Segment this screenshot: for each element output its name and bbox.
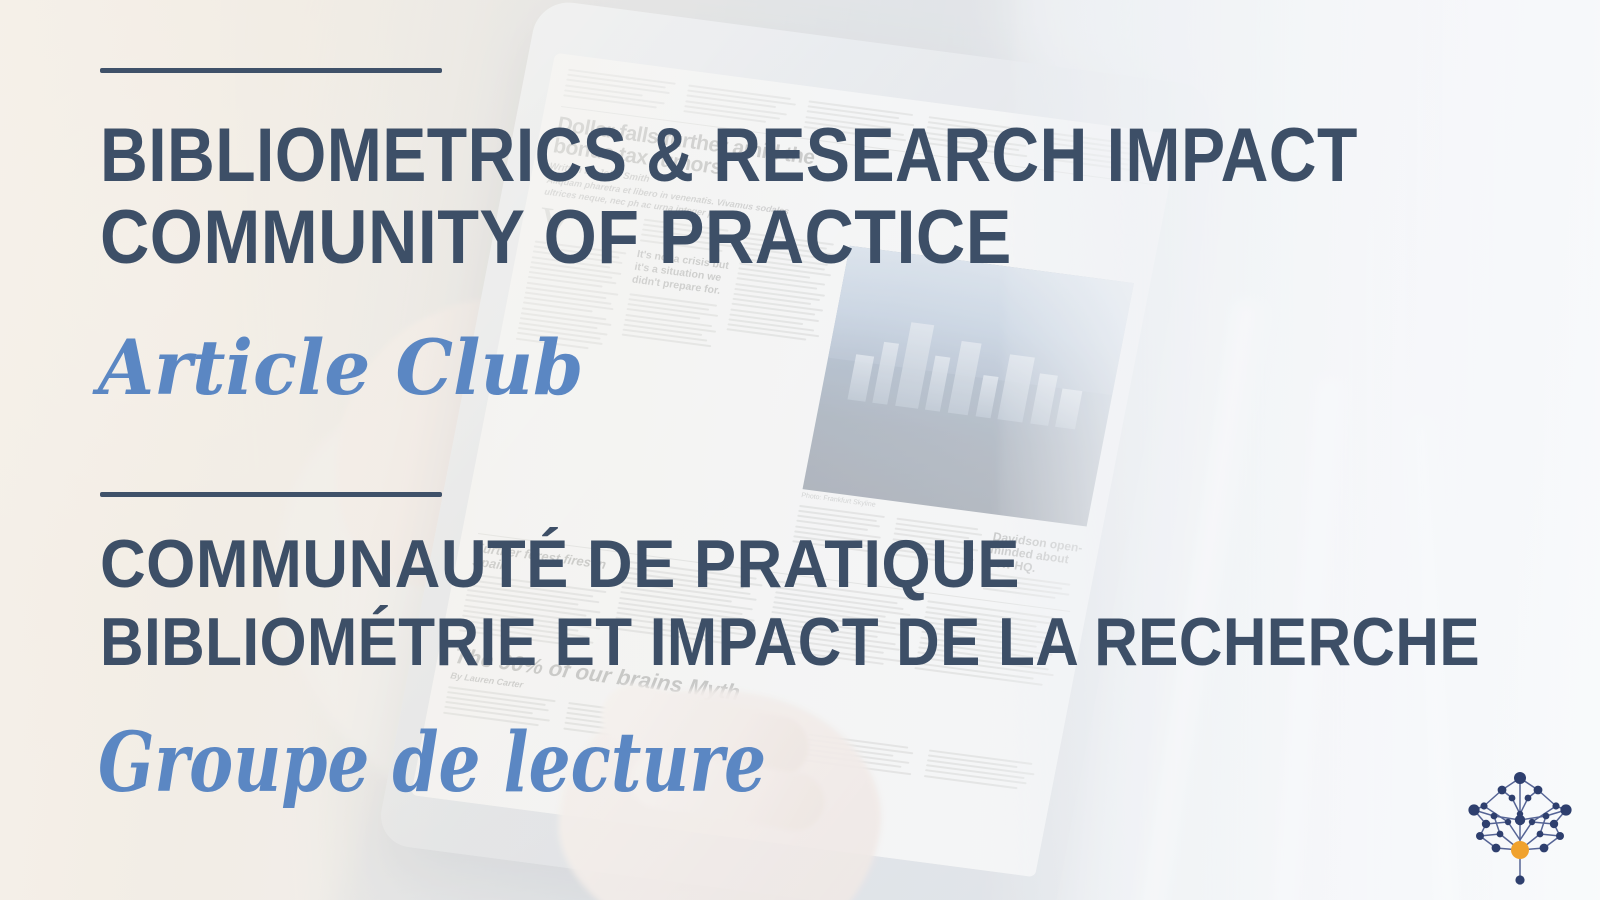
english-title-line1: BIBLIOMETRICS & RESEARCH IMPACT [100,118,1358,194]
slide-content: BIBLIOMETRICS & RESEARCH IMPACT COMMUNIT… [0,0,1600,900]
divider-rule-middle [100,492,442,497]
french-title-line1: COMMUNAUTÉ DE PRATIQUE [100,530,1020,598]
english-title-line2: COMMUNITY OF PRACTICE [100,200,1012,276]
english-subtitle: Article Club [98,330,584,406]
slide-canvas: Dollar falls further amid the bonus tax … [0,0,1600,900]
french-title-line2: BIBLIOMÉTRIE ET IMPACT DE LA RECHERCHE [100,608,1480,676]
maple-leaf-network-icon [1456,762,1584,890]
maple-leaf-network-logo [1456,762,1584,890]
center-node-highlight [1511,841,1529,859]
french-subtitle: Groupe de lecture [98,722,766,804]
divider-rule-top [100,68,442,73]
